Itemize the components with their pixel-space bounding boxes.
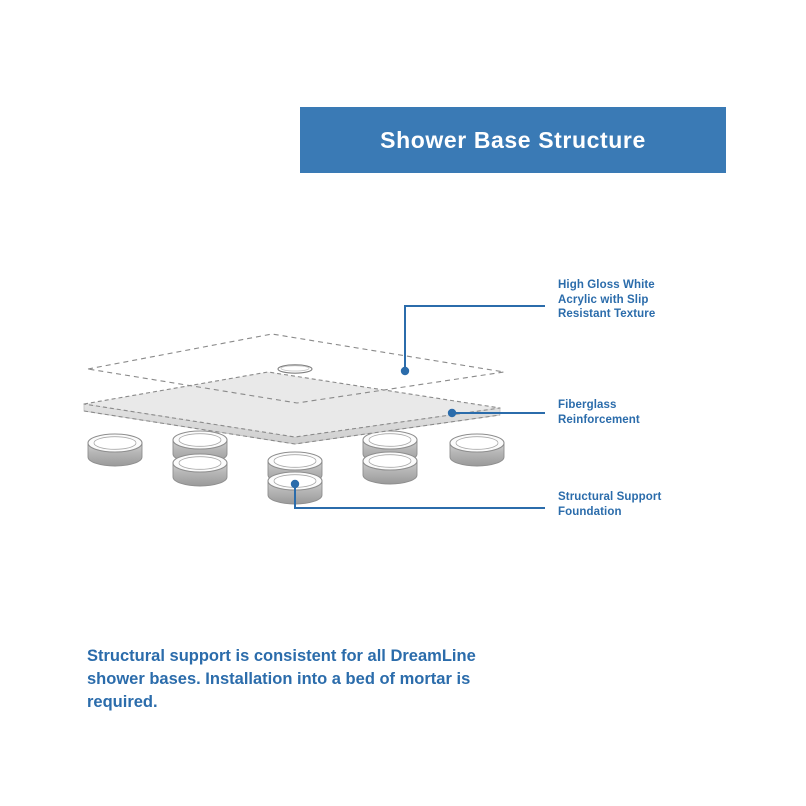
support-ring [173, 454, 227, 486]
footer-note: Structural support is consistent for all… [87, 645, 507, 714]
callout-foundation-line2: Foundation [558, 505, 748, 520]
leader-foundation [291, 480, 545, 508]
support-ring [363, 452, 417, 484]
fiberglass-slab-layer [84, 372, 500, 444]
callout-label-acrylic: High Gloss White Acrylic with Slip Resis… [558, 278, 748, 322]
leader-acrylic [401, 306, 545, 375]
callout-label-foundation: Structural Support Foundation [558, 490, 748, 519]
callout-acrylic-line1: High Gloss White [558, 278, 748, 293]
page-root: Shower Base Structure [0, 0, 806, 806]
drain-icon [278, 365, 312, 373]
callout-label-fiberglass: Fiberglass Reinforcement [558, 398, 748, 427]
callout-acrylic-line3: Resistant Texture [558, 307, 748, 322]
support-ring [450, 434, 504, 466]
callout-foundation-line1: Structural Support [558, 490, 748, 505]
callout-fiberglass-line2: Reinforcement [558, 413, 748, 428]
callout-acrylic-line2: Acrylic with Slip [558, 293, 748, 308]
support-ring [88, 434, 142, 466]
callout-fiberglass-line1: Fiberglass [558, 398, 748, 413]
